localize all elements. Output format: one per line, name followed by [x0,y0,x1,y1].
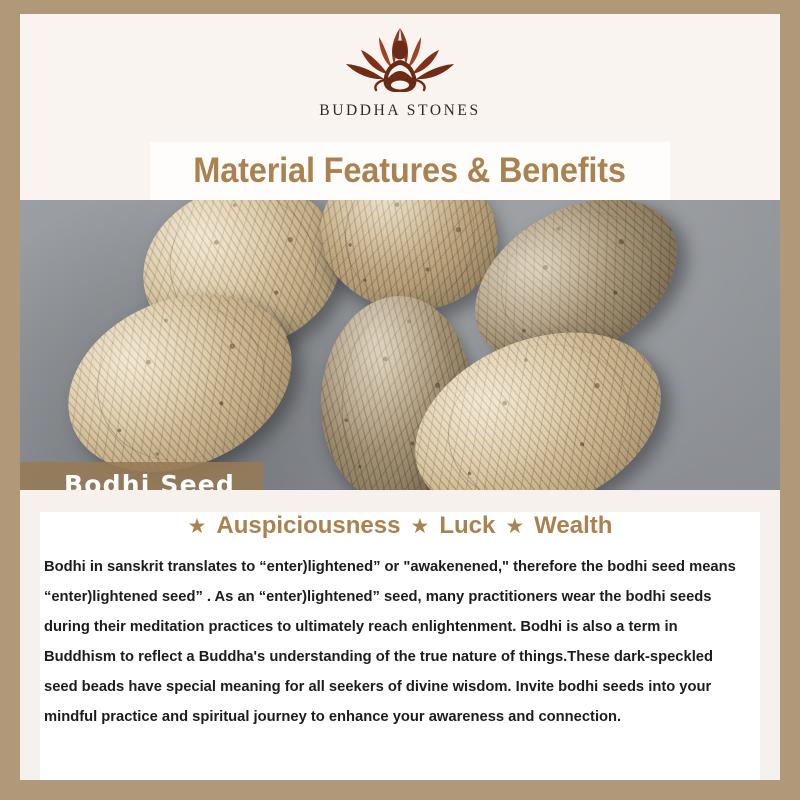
benefit-item-wealth: Wealth [534,512,612,540]
title-banner: Material Features & Benefits [150,142,670,200]
brand-header: BUDDHA STONES [20,14,780,142]
frame-accent-left [0,40,20,800]
product-photo: Bodhi Seed [20,200,780,490]
benefit-item-luck: Luck [439,512,495,540]
frame-accent-right [780,0,800,760]
star-icon: ★ [410,516,429,537]
page-title: Material Features & Benefits [194,151,627,191]
infographic-page: BUDDHA STONES Material Features & Benefi… [0,0,800,800]
frame-accent-bottom [0,778,608,800]
lotus-meditation-icon [332,20,468,98]
description-panel: ★ Auspiciousness ★ Luck ★ Wealth Bodhi i… [20,490,780,780]
benefit-item-auspiciousness: Auspiciousness [216,512,400,540]
brand-name: BUDDHA STONES [319,102,480,120]
frame-accent-top [215,0,800,14]
star-icon: ★ [505,516,524,537]
content-card: BUDDHA STONES Material Features & Benefi… [20,14,780,780]
product-name-label: Bodhi Seed [64,470,235,491]
product-name-tag: Bodhi Seed [20,462,263,490]
description-text: Bodhi in sanskrit translates to “enter)l… [44,552,739,732]
brand-logo: BUDDHA STONES [20,20,780,120]
star-icon: ★ [188,516,207,537]
benefits-list: ★ Auspiciousness ★ Luck ★ Wealth [20,512,780,540]
